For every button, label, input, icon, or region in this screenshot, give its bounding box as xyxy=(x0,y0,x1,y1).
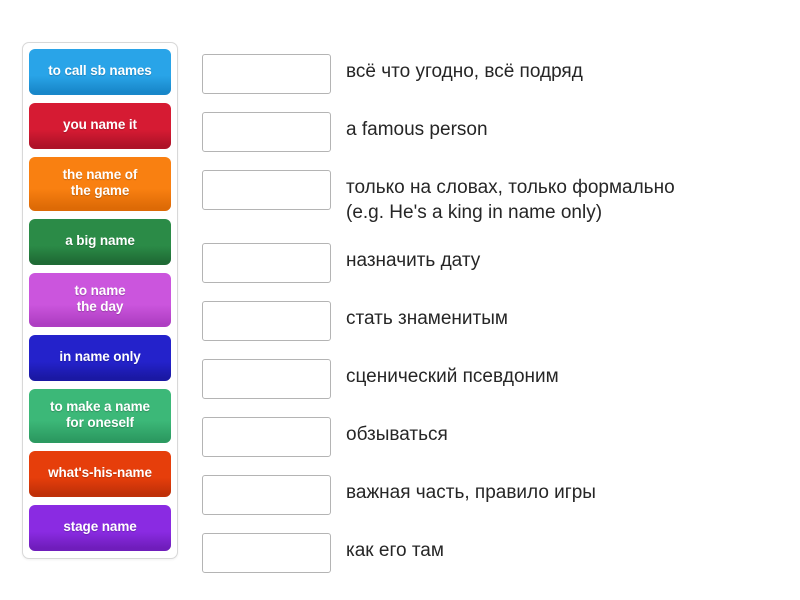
term-tile[interactable]: in name only xyxy=(29,335,171,381)
term-tile-label: in name only xyxy=(34,349,166,365)
definition-text: назначить дату xyxy=(346,243,782,273)
term-tile[interactable]: stage name xyxy=(29,505,171,551)
answer-dropzone[interactable] xyxy=(202,533,331,573)
answer-dropzone[interactable] xyxy=(202,417,331,457)
answer-row: как его там xyxy=(202,533,782,573)
answer-row: стать знаменитым xyxy=(202,301,782,341)
answer-dropzone[interactable] xyxy=(202,475,331,515)
term-tile[interactable]: you name it xyxy=(29,103,171,149)
answer-dropzone[interactable] xyxy=(202,170,331,210)
answer-rows-list: всё что угодно, всё подрядa famous perso… xyxy=(202,54,782,591)
term-tile[interactable]: to make a name for oneself xyxy=(29,389,171,443)
term-tile[interactable]: to call sb names xyxy=(29,49,171,95)
term-tile-label: to call sb names xyxy=(34,63,166,79)
definition-text: стать знаменитым xyxy=(346,301,782,331)
definition-text: как его там xyxy=(346,533,782,563)
answer-dropzone[interactable] xyxy=(202,243,331,283)
answer-dropzone[interactable] xyxy=(202,112,331,152)
answer-row: назначить дату xyxy=(202,243,782,283)
term-tile-label: a big name xyxy=(34,233,166,249)
draggable-terms-panel: to call sb namesyou name itthe name of t… xyxy=(22,42,178,559)
answer-dropzone[interactable] xyxy=(202,359,331,399)
term-tile[interactable]: a big name xyxy=(29,219,171,265)
answer-dropzone[interactable] xyxy=(202,301,331,341)
definition-text: только на словах, только формально (e.g.… xyxy=(346,170,782,225)
term-tile-label: to make a name for oneself xyxy=(34,399,166,431)
answer-row: обзываться xyxy=(202,417,782,457)
answer-row: сценический псевдоним xyxy=(202,359,782,399)
definition-text: важная часть, правило игры xyxy=(346,475,782,505)
term-tile[interactable]: the name of the game xyxy=(29,157,171,211)
term-tile-label: to name the day xyxy=(34,283,166,315)
term-tile-label: the name of the game xyxy=(34,167,166,199)
answer-row: всё что угодно, всё подряд xyxy=(202,54,782,94)
definition-text: a famous person xyxy=(346,112,782,142)
term-tile-label: you name it xyxy=(34,117,166,133)
answer-row: a famous person xyxy=(202,112,782,152)
term-tile-label: stage name xyxy=(34,519,166,535)
term-tile[interactable]: to name the day xyxy=(29,273,171,327)
answer-row: важная часть, правило игры xyxy=(202,475,782,515)
term-tile[interactable]: what's-his-name xyxy=(29,451,171,497)
term-tile-label: what's-his-name xyxy=(34,465,166,481)
definition-text: сценический псевдоним xyxy=(346,359,782,389)
definition-text: обзываться xyxy=(346,417,782,447)
match-up-board: to call sb namesyou name itthe name of t… xyxy=(0,0,800,600)
answer-row: только на словах, только формально (e.g.… xyxy=(202,170,782,225)
definition-text: всё что угодно, всё подряд xyxy=(346,54,782,84)
answer-dropzone[interactable] xyxy=(202,54,331,94)
